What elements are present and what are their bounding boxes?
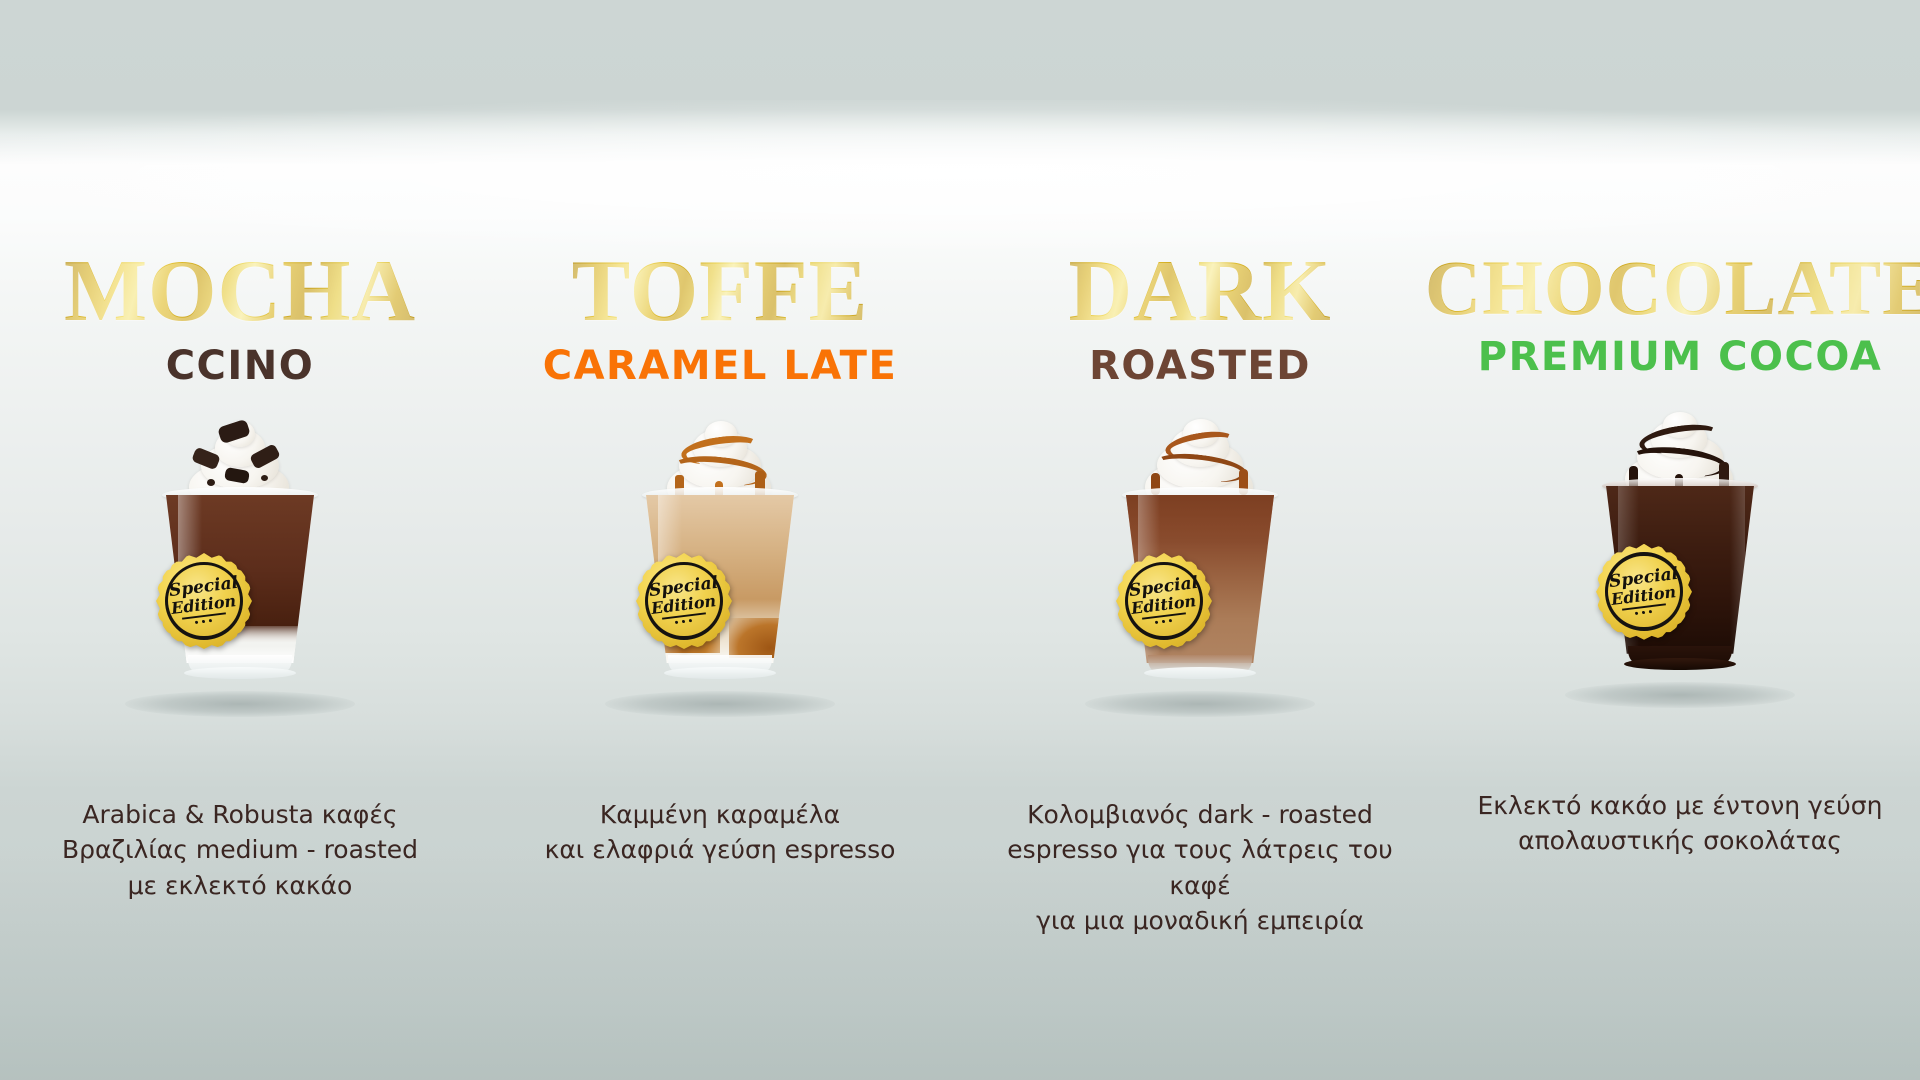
frappe-cup: Special Edition bbox=[152, 421, 328, 679]
floor-shadow bbox=[125, 691, 355, 717]
caramel-swirl-in-cup bbox=[729, 618, 788, 658]
badge-inner: Special Edition bbox=[168, 565, 239, 636]
product-description: Καμμένη καραμέλα και ελαφριά γεύση espre… bbox=[505, 797, 935, 868]
product-card-mocha[interactable]: MOCHA CCINO bbox=[0, 0, 480, 1080]
cup-base-rim bbox=[1144, 667, 1256, 679]
product-card-dark[interactable]: DARK ROASTED bbox=[960, 0, 1440, 1080]
badge-dots bbox=[1155, 619, 1172, 624]
product-columns: MOCHA CCINO bbox=[0, 0, 1920, 1080]
badge-dots bbox=[1635, 610, 1652, 615]
floor-shadow bbox=[1565, 682, 1795, 708]
special-edition-badge: Special Edition bbox=[156, 553, 252, 649]
product-subtitle: CCINO bbox=[166, 343, 315, 389]
special-edition-badge: Special Edition bbox=[1116, 553, 1212, 649]
product-description: Arabica & Robusta καφές Βραζιλίας medium… bbox=[25, 797, 455, 904]
frappe-cup: Special Edition bbox=[632, 421, 808, 679]
badge-dots bbox=[675, 619, 692, 624]
floor-shadow bbox=[605, 691, 835, 717]
floor-shadow bbox=[1085, 691, 1315, 717]
product-image: Special Edition bbox=[70, 411, 410, 731]
product-description: Εκλεκτό κακάο με έντονη γεύση απολαυστικ… bbox=[1465, 788, 1895, 859]
product-headline: MOCHA bbox=[64, 252, 416, 333]
product-image: Special Edition bbox=[1510, 402, 1850, 722]
product-headline: CHOCOLATE bbox=[1425, 252, 1920, 324]
product-headline: TOFFE bbox=[572, 252, 869, 333]
product-description: Κολομβιανός dark - roasted espresso για … bbox=[985, 797, 1415, 939]
product-image: Special Edition bbox=[1030, 411, 1370, 731]
product-card-toffe[interactable]: TOFFE CARAMEL LATE bbox=[480, 0, 960, 1080]
frappe-cup: Special Edition bbox=[1112, 421, 1288, 679]
cup-base-rim bbox=[184, 667, 296, 679]
badge-dots bbox=[195, 619, 212, 624]
menu-board: MOCHA CCINO bbox=[0, 0, 1920, 1080]
cup-base-rim bbox=[664, 667, 776, 679]
product-card-chocolate[interactable]: CHOCOLATE PREMIUM COCOA bbox=[1440, 0, 1920, 1080]
product-subtitle: CARAMEL LATE bbox=[543, 343, 898, 389]
frappe-cup: Special Edition bbox=[1592, 412, 1768, 670]
cup-base-rim bbox=[1624, 658, 1736, 670]
badge-inner: Special Edition bbox=[648, 565, 719, 636]
product-subtitle: ROASTED bbox=[1089, 343, 1311, 389]
special-edition-badge: Special Edition bbox=[636, 553, 732, 649]
product-headline: DARK bbox=[1068, 252, 1331, 333]
crumble bbox=[261, 475, 268, 481]
product-subtitle: PREMIUM COCOA bbox=[1478, 334, 1882, 380]
badge-inner: Special Edition bbox=[1128, 565, 1199, 636]
product-image: Special Edition bbox=[550, 411, 890, 731]
crumble bbox=[207, 479, 215, 486]
badge-inner: Special Edition bbox=[1608, 556, 1679, 627]
special-edition-badge: Special Edition bbox=[1596, 544, 1692, 640]
